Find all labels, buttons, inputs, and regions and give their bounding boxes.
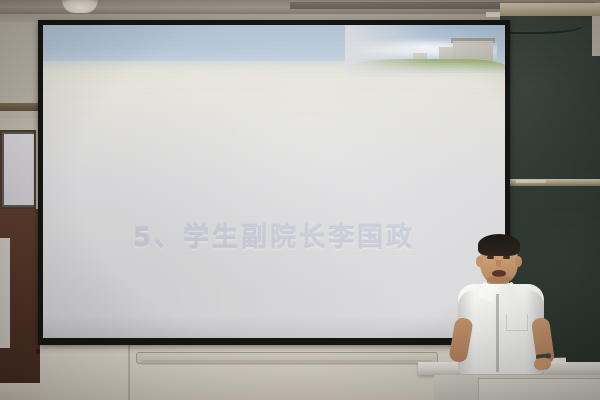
eyebrow-right xyxy=(502,252,511,254)
eye-right xyxy=(503,256,510,259)
campus-building-photo xyxy=(345,25,505,77)
ear-left xyxy=(476,256,483,267)
shirt-placket xyxy=(496,294,499,372)
slide-title-line-1: 5、学生副院长李国政 xyxy=(43,217,505,259)
right-wall-sliver xyxy=(592,16,600,56)
shirt-pocket xyxy=(506,314,528,331)
wall-notice-board xyxy=(0,130,36,209)
ear-right xyxy=(515,256,522,267)
chalkboard-top-frame xyxy=(500,3,600,16)
chalkboard-chalk-ledge xyxy=(500,179,600,186)
eyebrow-left xyxy=(486,252,495,254)
slide-title-block: 5、学生副院长李国政 介绍学生工作情况 xyxy=(43,133,505,338)
lower-wall-seam xyxy=(128,345,130,400)
door-edge-light xyxy=(0,238,10,348)
classroom-scene-photo: 5、学生副院长李国政 介绍学生工作情况 xyxy=(0,0,600,400)
eye-left xyxy=(487,256,494,259)
nose xyxy=(496,260,501,267)
left-wall-rail xyxy=(0,103,40,111)
left-lower-wall xyxy=(0,383,44,400)
projection-screen-surface: 5、学生副院长李国政 介绍学生工作情况 xyxy=(43,25,505,338)
photo-bottom-fade xyxy=(345,61,505,77)
podium-front-panel xyxy=(478,378,600,400)
speaker-at-podium xyxy=(450,232,560,372)
chalk-dust xyxy=(516,180,546,183)
chin-shadow xyxy=(486,276,512,283)
wall-notice-board-surface xyxy=(4,134,34,205)
wall-rail-shadow xyxy=(142,360,432,365)
hair xyxy=(478,234,520,256)
pull-down-projection-screen: 5、学生副院长李国政 介绍学生工作情况 xyxy=(38,20,510,345)
right-hand xyxy=(533,357,551,371)
